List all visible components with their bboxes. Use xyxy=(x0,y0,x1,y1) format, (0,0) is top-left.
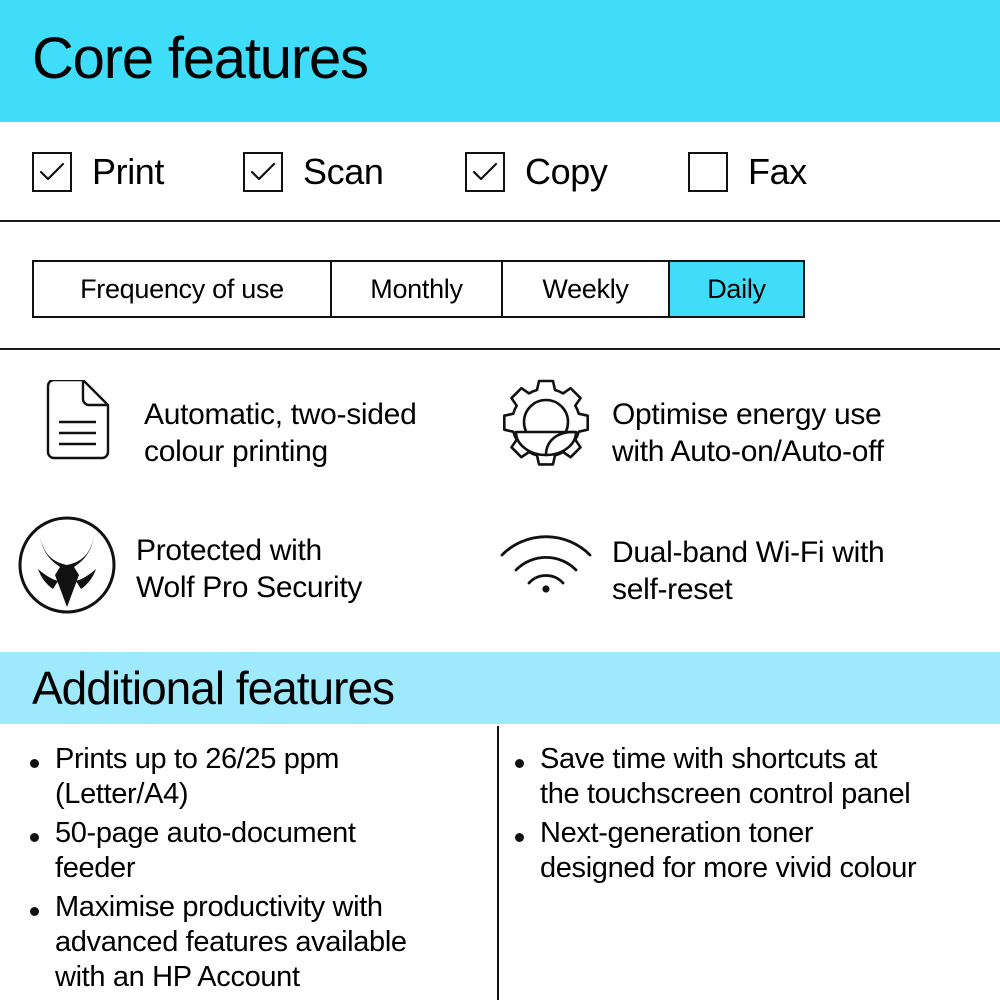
list-item-text: Maximise productivity with advanced feat… xyxy=(55,890,407,995)
additional-features-title: Additional features xyxy=(32,660,394,716)
feature-text: Dual-band Wi-Fi with self-reset xyxy=(612,514,884,608)
capability-checkbox-row: Print Scan Copy Fax xyxy=(0,122,1000,222)
frequency-row-label: Frequency of use xyxy=(34,262,332,316)
feature-line-2: with Auto-on/Auto-off xyxy=(612,435,884,468)
feature-energy-optimisation: Optimise energy use with Auto-on/Auto-of… xyxy=(498,374,998,470)
capability-label: Scan xyxy=(303,152,383,192)
list-item-line-2: (Letter/A4) xyxy=(55,778,188,810)
checkbox-checked-icon[interactable] xyxy=(243,152,283,192)
list-item-line-1: Save time with shortcuts at xyxy=(540,743,877,775)
bullet-dot-icon xyxy=(30,759,39,768)
feature-text: Protected with Wolf Pro Security xyxy=(136,514,362,606)
bullet-dot-icon xyxy=(515,833,524,842)
frequency-option-daily[interactable]: Daily xyxy=(670,262,803,316)
feature-line-1: Protected with xyxy=(136,534,322,567)
additional-features-left-column: Prints up to 26/25 ppm (Letter/A4) 50-pa… xyxy=(30,742,485,999)
list-item-line-2: the touchscreen control panel xyxy=(540,778,910,810)
capability-fax[interactable]: Fax xyxy=(688,152,807,192)
icon-feature-grid: Automatic, two-sided colour printing Opt… xyxy=(0,352,1000,652)
capability-label: Copy xyxy=(525,152,607,192)
list-item-text: Next-generation toner designed for more … xyxy=(540,816,916,886)
bullet-dot-icon xyxy=(30,833,39,842)
feature-two-sided-printing: Automatic, two-sided colour printing xyxy=(30,374,500,470)
list-item-line-1: Maximise productivity with xyxy=(55,891,383,923)
list-item: Prints up to 26/25 ppm (Letter/A4) xyxy=(30,742,485,812)
list-item: Save time with shortcuts at the touchscr… xyxy=(515,742,990,812)
bullet-dot-icon xyxy=(30,907,39,916)
checkbox-checked-icon[interactable] xyxy=(465,152,505,192)
feature-text: Optimise energy use with Auto-on/Auto-of… xyxy=(612,374,884,470)
feature-line-1: Dual-band Wi-Fi with xyxy=(612,536,884,569)
list-item: Next-generation toner designed for more … xyxy=(515,816,990,886)
frequency-of-use-table: Frequency of use Monthly Weekly Daily xyxy=(32,260,805,318)
list-item-text: 50-page auto-document feeder xyxy=(55,816,356,886)
wifi-icon xyxy=(498,514,594,610)
feature-line-2: self-reset xyxy=(612,573,732,606)
list-item-line-1: 50-page auto-document xyxy=(55,817,356,849)
capability-label: Print xyxy=(92,152,164,192)
feature-text: Automatic, two-sided colour printing xyxy=(144,374,416,470)
list-item-line-3: with an HP Account xyxy=(55,961,300,993)
feature-line-1: Automatic, two-sided xyxy=(144,398,416,431)
list-item: Maximise productivity with advanced feat… xyxy=(30,890,485,995)
core-features-spec-sheet: Core features Print Scan xyxy=(0,0,1000,1000)
additional-features-lists: Prints up to 26/25 ppm (Letter/A4) 50-pa… xyxy=(0,724,1000,1000)
document-lines-icon xyxy=(30,374,126,470)
core-features-banner: Core features xyxy=(0,0,1000,122)
frequency-of-use-section: Frequency of use Monthly Weekly Daily xyxy=(0,224,1000,350)
checkbox-unchecked-icon[interactable] xyxy=(688,152,728,192)
frequency-option-monthly[interactable]: Monthly xyxy=(332,262,503,316)
list-item-line-1: Prints up to 26/25 ppm xyxy=(55,743,339,775)
list-item-text: Prints up to 26/25 ppm (Letter/A4) xyxy=(55,742,339,812)
feature-dual-band-wifi: Dual-band Wi-Fi with self-reset xyxy=(498,514,998,610)
bullet-dot-icon xyxy=(515,759,524,768)
list-item-line-2: advanced features available xyxy=(55,926,407,958)
additional-features-right-column: Save time with shortcuts at the touchscr… xyxy=(515,742,990,890)
feature-line-2: Wolf Pro Security xyxy=(136,571,362,604)
list-item-text: Save time with shortcuts at the touchscr… xyxy=(540,742,910,812)
capability-copy[interactable]: Copy xyxy=(465,152,607,192)
list-item-line-2: designed for more vivid colour xyxy=(540,852,916,884)
gear-leaf-eco-icon xyxy=(498,374,594,470)
feature-line-1: Optimise energy use xyxy=(612,398,881,431)
capability-scan[interactable]: Scan xyxy=(243,152,383,192)
checkbox-checked-icon[interactable] xyxy=(32,152,72,192)
frequency-option-weekly[interactable]: Weekly xyxy=(503,262,670,316)
feature-wolf-pro-security: Protected with Wolf Pro Security xyxy=(16,514,496,616)
list-item: 50-page auto-document feeder xyxy=(30,816,485,886)
list-item-line-1: Next-generation toner xyxy=(540,817,813,849)
list-item-line-2: feeder xyxy=(55,852,135,884)
capability-label: Fax xyxy=(748,152,807,192)
column-divider xyxy=(497,726,499,1000)
capability-print[interactable]: Print xyxy=(32,152,164,192)
page-title: Core features xyxy=(32,24,368,94)
additional-features-banner: Additional features xyxy=(0,652,1000,724)
wolf-pro-security-icon xyxy=(16,514,118,616)
feature-line-2: colour printing xyxy=(144,435,328,468)
